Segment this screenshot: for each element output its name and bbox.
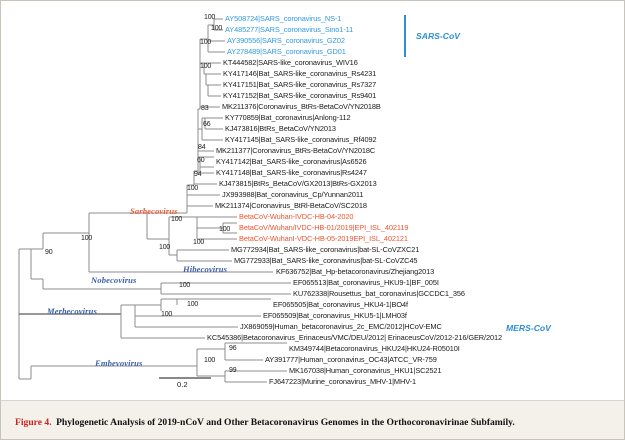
bootstrap-value: 100 [219,226,230,233]
taxon-label: KM349744|Betacoronavirus_HKU24|HKU24-R05… [289,345,460,353]
taxon-label: EF065509|Bat_coronavirus_HKU5-1|LMH03f [263,312,407,320]
bootstrap-value: 100 [179,282,190,289]
caption-text: Phylogenetic Analysis of 2019-nCoV and O… [56,417,515,428]
taxon-label: MG772933|Bat_SARS-like_coronavirus|bat-S… [234,257,417,265]
bootstrap-value: 100 [193,239,204,246]
bootstrap-value: 83 [201,105,208,112]
taxon-label: KY417142|Bat_SARS-like_coronavirus|As652… [216,158,367,166]
taxon-label: AY391777|Human_coronavirus_OC43|ATCC_VR-… [265,356,437,364]
group-label-sars-cov: SARS-CoV [416,31,460,41]
bootstrap-value: 60 [197,157,204,164]
taxon-label: MK167038|Human_coronavirus_HKU1|SC2521 [289,367,441,375]
taxon-label: JX993988|Bat_coronavirus_Cp/Yunnan2011 [222,191,363,199]
bootstrap-value: 100 [200,63,211,70]
taxon-label: EF065505|Bat_coronavirus_HKU4-1|BO4f [273,301,408,309]
bootstrap-value: 100 [171,216,182,223]
genus-label-embevovirus: Embevovirus [95,358,142,368]
taxon-label: MK211377|Coronavirus_BtRs-BetaCoV/YN2018… [216,147,375,155]
taxon-label: KF636752|Bat_Hp-betacoronavirus/Zhejiang… [276,268,434,276]
taxon-label: KT444582|SARS-like_coronavirus_WIV16 [223,59,358,67]
taxon-label: KJ473816|BtRs_BetaCoV/YN2013 [225,125,336,133]
taxon-label: BetaCoV-WuhanI-VDC-HB-05-2019EPI_ISL_402… [239,235,408,243]
caption-number: Figure 4. [15,417,52,428]
genus-label-merbecovirus: Merbecovirus [47,306,97,316]
taxon-label: MG772934|Bat_SARS-like_coronavirus|bat-S… [231,246,419,254]
taxon-label: BetaCoV/Wuhan/IVDC-HB-01/2019|EPI_ISL_40… [239,224,408,232]
taxon-label: KY417151|Bat_SARS-like_coronavirus_Rs732… [223,81,376,89]
bootstrap-value: 100 [187,185,198,192]
taxon-label: AY390556|SARS_coronavirus_GZ02 [227,37,345,45]
figure-container: AY508724|SARS_coronavirus_NS-1AY485277|S… [0,0,625,440]
bootstrap-value: 100 [161,311,172,318]
genus-label-sarbecovirus: Sarbecovirus [130,206,178,216]
group-label-mers-cov: MERS-CoV [506,323,551,333]
bootstrap-value: 90 [45,249,52,256]
bootstrap-value: 99 [229,367,236,374]
bootstrap-value: 100 [159,244,170,251]
phylogenetic-tree-panel: AY508724|SARS_coronavirus_NS-1AY485277|S… [1,1,625,401]
bootstrap-value: 100 [211,25,222,32]
taxon-label: JX869059|Human_betacoronavirus_2c_EMC/20… [240,323,442,331]
taxon-label: MK211376|Coronavirus_BtRs-BetaCoV/YN2018… [222,103,381,111]
taxon-label: KY417146|Bat_SARS-like_coronavirus_Rs423… [223,70,376,78]
bootstrap-value: 100 [204,357,215,364]
bootstrap-value: 96 [229,345,236,352]
taxon-label: AY485277|SARS_coronavirus_Sino1-11 [225,26,353,34]
bootstrap-value: 94 [194,171,201,178]
genus-label-nobecovirus: Nobecovirus [91,275,137,285]
taxon-label: KC545386|Betacoronavirus_Erinaceus/VMC/D… [207,334,502,342]
taxon-label: KY417148|Bat_SARS-like_coronavirus|Rs424… [216,169,367,177]
taxon-label: EF065513|Bat_coronavirus_HKU9-1|BF_005I [293,279,439,287]
taxon-label: MK211374|Coronavirus_BtRl-BetaCoV/SC2018 [215,202,367,210]
bootstrap-value: 100 [200,39,211,46]
taxon-label: FJ647223|Murine_coronavirus_MHV-1|MHV-1 [269,378,416,386]
taxon-label: BetaCoV-Wuhan-IVDC-HB-04-2020 [239,213,353,221]
bootstrap-value: 66 [203,121,210,128]
taxon-label: KY417152|Bat_SARS-like_coronavirus_Rs940… [223,92,376,100]
figure-caption-panel: Figure 4. Phylogenetic Analysis of 2019-… [1,401,625,440]
bootstrap-value: 100 [187,301,198,308]
bootstrap-value: 100 [204,14,215,21]
taxon-label: KY770859|Bat_coronavirus|Anlong-112 [225,114,351,122]
figure-caption: Figure 4. Phylogenetic Analysis of 2019-… [1,412,525,430]
scale-bar-label: 0.2 [177,380,188,389]
bootstrap-value: 84 [198,144,205,151]
taxon-label: KY417145|Bat_SARS-like_coronavirus_Rf409… [225,136,376,144]
genus-label-hibecovirus: Hibecovirus [183,264,227,274]
taxon-label: KJ473815|BtRs_BetaCoV/GX2013|BtRs-GX2013 [219,180,377,188]
taxon-label: AY508724|SARS_coronavirus_NS-1 [225,15,341,23]
bootstrap-value: 100 [81,235,92,242]
taxon-label: AY278489|SARS_coronavirus_GD01 [227,48,346,56]
taxon-label: KU762338|Rousettus_bat_coronavirus|GCCDC… [293,290,465,298]
